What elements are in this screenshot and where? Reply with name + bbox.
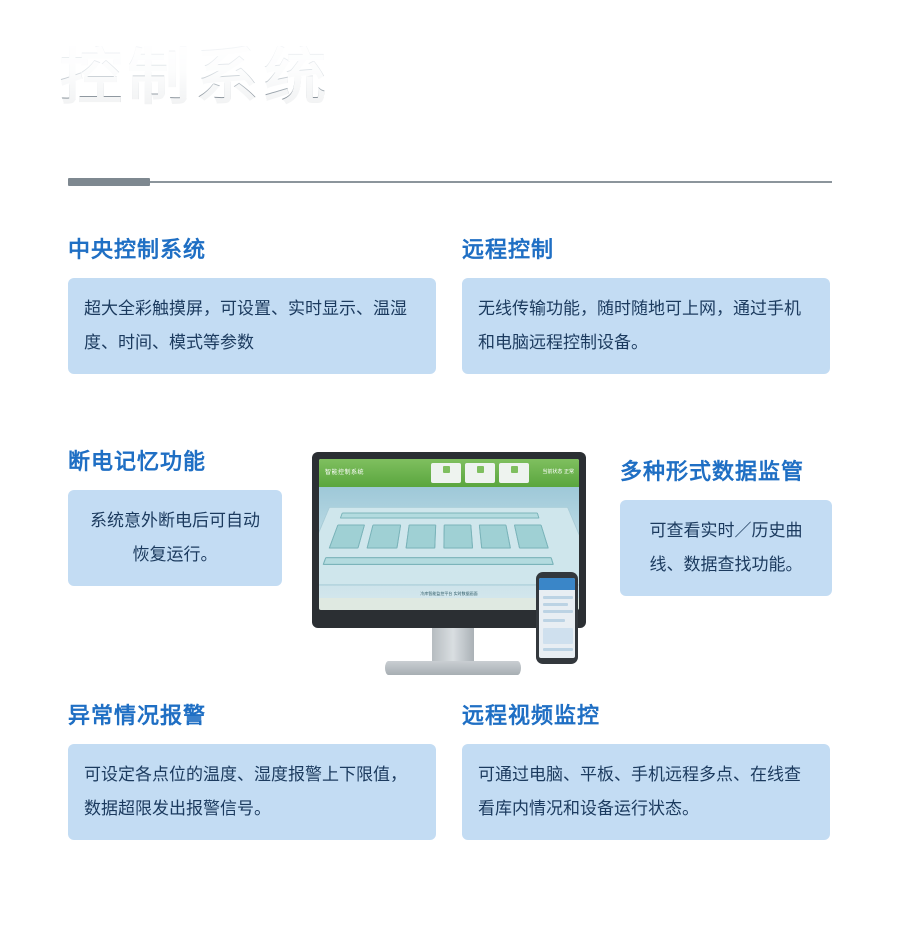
feature-title: 远程控制 xyxy=(462,232,830,264)
feature-video-monitoring: 远程视频监控 可通过电脑、平板、手机远程多点、在线查看库内情况和设备运行状态。 xyxy=(462,698,830,840)
feature-text: 可设定各点位的温度、湿度报警上下限值，数据超限发出报警信号。 xyxy=(68,744,436,840)
phone-content-line xyxy=(543,619,565,622)
phone-content-line xyxy=(543,603,568,606)
phone-content-line xyxy=(543,610,573,613)
divider-thick-segment xyxy=(68,178,150,186)
phone-app-header xyxy=(539,578,575,590)
feature-text: 可查看实时／历史曲线、数据查找功能。 xyxy=(620,500,832,596)
monitor-stand-base xyxy=(385,661,521,675)
rack-unit xyxy=(479,524,511,549)
phone-screen xyxy=(539,578,575,658)
phone-content-line xyxy=(543,648,573,651)
page-title-text: 控制系统 xyxy=(60,46,460,108)
bell-icon xyxy=(511,466,518,473)
rack-unit xyxy=(514,524,549,549)
phone-content-line xyxy=(543,596,573,599)
device-illustration: 智能控制系统 当前状态 正常 xyxy=(308,452,598,677)
feature-text: 系统意外断电后可自动恢复运行。 xyxy=(68,490,282,586)
rack-unit xyxy=(329,524,366,549)
rack-row-top xyxy=(340,513,540,519)
feature-title: 远程视频监控 xyxy=(462,698,830,730)
feature-data-supervision: 多种形式数据监管 可查看实时／历史曲线、数据查找功能。 xyxy=(620,454,832,596)
rack-row-bottom xyxy=(323,557,554,565)
feature-text: 无线传输功能，随时随地可上网，通过手机和电脑远程控制设备。 xyxy=(462,278,830,374)
rack-unit xyxy=(444,524,474,549)
feature-text: 可通过电脑、平板、手机远程多点、在线查看库内情况和设备运行状态。 xyxy=(462,744,830,840)
feature-title: 中央控制系统 xyxy=(68,232,436,264)
page-root: 控制系统 控制系统 中央控制系统 超大全彩触摸屏，可设置、实时显示、温湿度、时间… xyxy=(0,0,900,945)
screen-button-settings[interactable] xyxy=(465,463,495,483)
temperature-icon xyxy=(443,466,450,473)
screen-button-alarm[interactable] xyxy=(499,463,529,483)
page-title: 控制系统 控制系统 xyxy=(60,46,460,151)
screen-status-text: 当前状态 正常 xyxy=(542,468,574,475)
smartphone xyxy=(536,572,578,664)
feature-title: 异常情况报警 xyxy=(68,698,436,730)
feature-text: 超大全彩触摸屏，可设置、实时显示、温湿度、时间、模式等参数 xyxy=(68,278,436,374)
feature-remote-control: 远程控制 无线传输功能，随时随地可上网，通过手机和电脑远程控制设备。 xyxy=(462,232,830,374)
screen-button-temperature[interactable] xyxy=(431,463,461,483)
feature-central-control: 中央控制系统 超大全彩触摸屏，可设置、实时显示、温湿度、时间、模式等参数 xyxy=(68,232,436,374)
rack-unit xyxy=(367,524,401,549)
phone-chart-block xyxy=(543,628,573,644)
divider-thin-segment xyxy=(150,181,832,183)
rack-unit xyxy=(405,524,436,549)
feature-alarm: 异常情况报警 可设定各点位的温度、湿度报警上下限值，数据超限发出报警信号。 xyxy=(68,698,436,840)
feature-title: 断电记忆功能 xyxy=(68,444,282,476)
screen-logo-text: 智能控制系统 xyxy=(325,467,364,476)
gear-icon xyxy=(477,466,484,473)
divider xyxy=(68,178,832,186)
feature-title: 多种形式数据监管 xyxy=(620,454,832,486)
feature-power-memory: 断电记忆功能 系统意外断电后可自动恢复运行。 xyxy=(68,444,282,586)
